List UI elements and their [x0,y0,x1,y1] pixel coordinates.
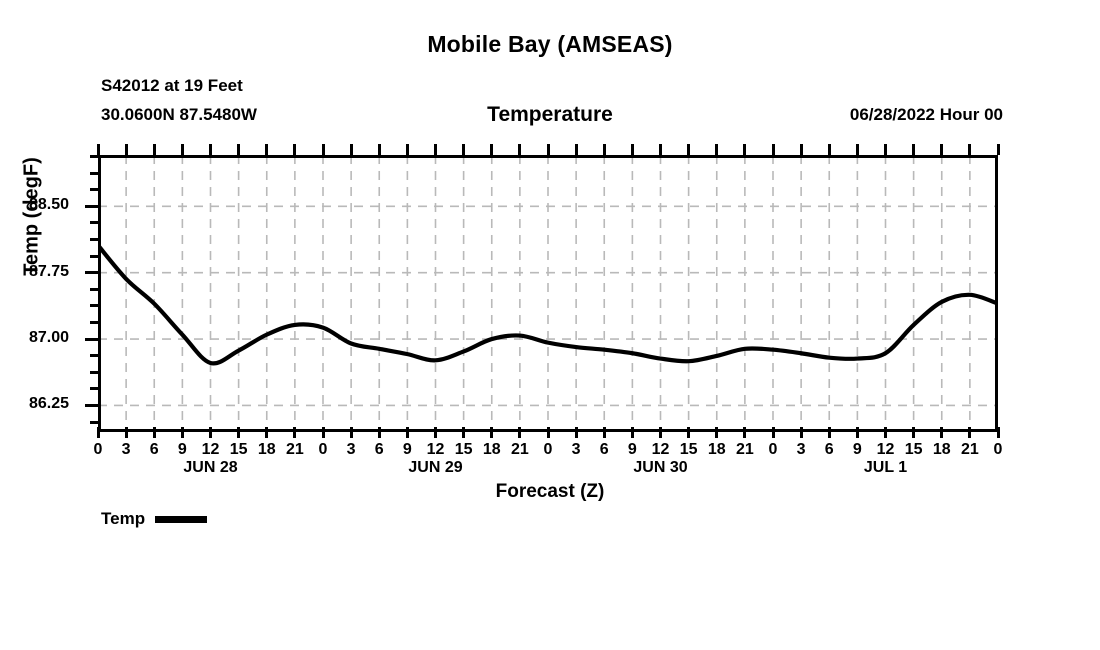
plot-area [98,155,998,432]
x-tick-top [209,144,212,155]
y-tick-label: 87.00 [29,329,69,347]
x-tick-label: 21 [511,441,529,459]
x-tick-top [912,144,915,155]
x-tick-top [406,144,409,155]
x-tick-top [462,144,465,155]
x-tick-top [940,144,943,155]
y-tick-label: 86.25 [29,395,69,413]
x-tick-label: 3 [347,441,356,459]
x-tick-label: 9 [178,441,187,459]
x-tick-label: 21 [286,441,304,459]
y-tick-minor [90,155,98,158]
x-tick-top [518,144,521,155]
x-tick-top [490,144,493,155]
x-tick-top [153,144,156,155]
x-tick-top [265,144,268,155]
x-tick-label: 3 [122,441,131,459]
y-tick-minor [90,304,98,307]
vertical-gridlines [126,155,970,432]
x-tick-label: 6 [825,441,834,459]
y-tick-major [85,205,98,208]
x-day-label: JUN 28 [183,459,237,477]
y-tick-minor [90,188,98,191]
y-tick-minor [90,221,98,224]
y-tick-minor [90,321,98,324]
x-tick-top [575,144,578,155]
x-tick-top [547,144,550,155]
x-tick-top [856,144,859,155]
x-tick-label: 9 [628,441,637,459]
legend: Temp [101,509,207,529]
x-tick-top [125,144,128,155]
x-tick-top [237,144,240,155]
x-tick-label: 18 [258,441,276,459]
x-tick-top [322,144,325,155]
x-tick-top [968,144,971,155]
y-tick-minor [90,288,98,291]
y-tick-minor [90,172,98,175]
chart-page: Mobile Bay (AMSEAS) S42012 at 19 Feet 30… [0,0,1100,650]
x-tick-top [97,144,100,155]
x-day-label: JUN 29 [408,459,462,477]
x-tick-top [659,144,662,155]
y-axis-title: Temp (degF) [21,107,44,327]
y-tick-major [85,338,98,341]
x-tick-label: 12 [877,441,895,459]
x-tick-top [603,144,606,155]
x-tick-label: 15 [230,441,248,459]
x-tick-label: 21 [736,441,754,459]
x-tick-label: 0 [544,441,553,459]
x-tick-top [743,144,746,155]
y-tick-minor [90,387,98,390]
x-tick-label: 3 [797,441,806,459]
x-tick-top [181,144,184,155]
y-tick-minor [90,354,98,357]
x-tick-top [631,144,634,155]
x-tick-label: 0 [769,441,778,459]
station-label: S42012 at 19 Feet [101,76,243,96]
y-tick-minor [90,371,98,374]
x-tick-top [800,144,803,155]
x-tick-label: 21 [961,441,979,459]
x-tick-top [350,144,353,155]
x-tick-label: 6 [600,441,609,459]
x-tick-top [378,144,381,155]
x-day-label: JUL 1 [864,459,907,477]
x-day-label: JUN 30 [633,459,687,477]
x-tick-label: 18 [933,441,951,459]
x-tick-label: 12 [202,441,220,459]
x-tick-label: 9 [403,441,412,459]
x-tick-label: 18 [708,441,726,459]
y-tick-minor [90,421,98,424]
run-time-label: 06/28/2022 Hour 00 [850,105,1003,125]
x-tick-label: 12 [652,441,670,459]
legend-label-temp: Temp [101,509,145,529]
x-tick-label: 9 [853,441,862,459]
x-tick-top [997,144,1000,155]
x-tick-label: 15 [455,441,473,459]
x-tick-top [687,144,690,155]
x-tick-label: 0 [94,441,103,459]
legend-swatch-temp [155,516,207,523]
x-tick-top [884,144,887,155]
x-tick-top [293,144,296,155]
x-axis-title: Forecast (Z) [0,481,1100,503]
plot-frame [100,157,997,431]
x-tick-top [434,144,437,155]
x-tick-label: 18 [483,441,501,459]
x-tick-top [828,144,831,155]
x-tick-label: 6 [375,441,384,459]
y-tick-minor [90,255,98,258]
y-tick-major [85,271,98,274]
x-tick-label: 0 [994,441,1003,459]
y-tick-minor [90,238,98,241]
chart-canvas [98,155,998,432]
y-tick-major [85,404,98,407]
x-tick-label: 12 [427,441,445,459]
page-title-top: Mobile Bay (AMSEAS) [0,31,1100,58]
x-tick-label: 0 [319,441,328,459]
x-tick-label: 3 [572,441,581,459]
x-tick-label: 15 [680,441,698,459]
x-tick-label: 15 [905,441,923,459]
x-tick-top [715,144,718,155]
x-tick-top [772,144,775,155]
x-tick-label: 6 [150,441,159,459]
